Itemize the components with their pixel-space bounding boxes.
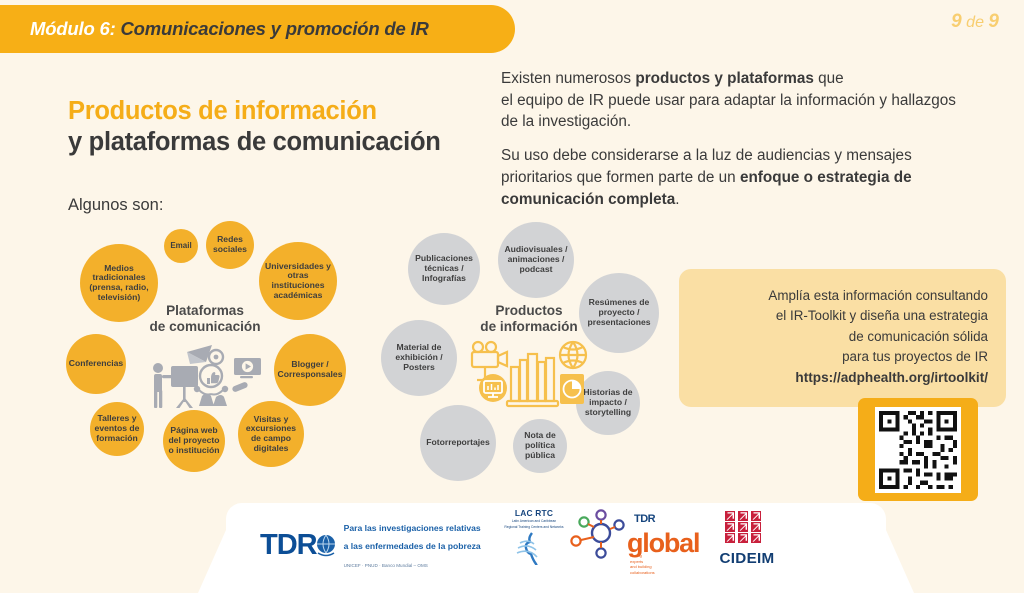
qr-code-container[interactable] (858, 398, 978, 501)
bubble-products-3[interactable]: Material de exhibición / Posters (381, 320, 457, 396)
bubble-label: Audiovisuales / animaciones / podcast (500, 245, 572, 274)
bubble-label: Publicaciones técnicas / Infografías (410, 254, 478, 283)
video-screen-icon (231, 358, 261, 393)
bubble-platforms-1[interactable]: Email (164, 229, 198, 263)
callout-line-4: para tus proyectos de IR (842, 349, 988, 364)
bubble-label: Nota de política pública (515, 431, 565, 460)
tdr-logo-word: TDR (260, 529, 317, 562)
tdr-globe-icon (314, 533, 338, 557)
platforms-cluster-label: Plataformas de comunicación (140, 303, 270, 335)
tdr-global-sub-1: finding experts (630, 553, 643, 564)
bubble-platforms-6[interactable]: Talleres y eventos de formación (90, 402, 144, 456)
bubble-label: Universidades y otras instituciones acad… (261, 262, 335, 301)
qr-code[interactable] (867, 407, 969, 493)
bubble-platforms-4[interactable]: Conferencias (66, 334, 126, 394)
platforms-icon-art (146, 340, 264, 417)
intro-paragraph-1: Existen numerosos productos y plataforma… (501, 68, 971, 133)
thumbs-up-network-icon (194, 365, 228, 406)
page-title: Productos de información y plataformas d… (68, 96, 498, 158)
bubble-label: Fotorreportajes (426, 438, 490, 448)
lac-rtc-sub-1: Latin American and Caribbean (503, 519, 565, 524)
cideim-logo: CIDEIM (710, 509, 784, 567)
products-label-line-2: de información (480, 319, 577, 334)
bubble-label: Talleres y eventos de formación (92, 414, 142, 443)
tdr-tagline-line-2: a las enfermedades de la pobreza (344, 541, 481, 551)
bubble-platforms-2[interactable]: Redes sociales (206, 221, 254, 269)
lac-rtc-word: LAC RTC (503, 508, 565, 518)
bubble-label: Página web del proyecto o institución (165, 426, 223, 455)
page-separator: de (962, 14, 989, 31)
products-label-line-1: Productos (495, 303, 562, 318)
tdr-global-logo: TDR global finding experts and building … (570, 508, 628, 565)
platforms-label-line-1: Plataformas (166, 303, 244, 318)
intro-p2-c: . (675, 191, 679, 208)
bubble-label: Redes sociales (208, 235, 252, 254)
lac-rtc-map-icon (510, 531, 558, 565)
callout-url-link[interactable]: https://adphealth.org/irtoolkit/ (795, 370, 988, 385)
pie-chart-document-icon (560, 374, 584, 404)
presenter-board-icon (153, 363, 198, 408)
bubble-label: Email (170, 241, 191, 250)
tdr-tagline: Para las investigaciones relativas a las… (344, 518, 481, 572)
module-header-pill: Módulo 6: Comunicaciones y promoción de … (0, 5, 515, 53)
products-icon-art (467, 338, 589, 419)
module-title: Comunicaciones y promoción de IR (116, 18, 429, 39)
callout-box: Amplía esta información consultando el I… (679, 269, 1006, 407)
page-current: 9 (951, 11, 962, 32)
intro-p1-a: Existen numerosos (501, 70, 635, 87)
bubble-products-6[interactable]: Nota de política pública (513, 419, 567, 473)
platforms-icon-group (146, 340, 264, 412)
intro-p1-bold: productos y plataformas (635, 70, 814, 87)
tdr-global-sub-2: and building collaborations (630, 564, 655, 575)
tdr-logo: TDR Para las investigaciones relativas a… (260, 518, 481, 572)
bubble-platforms-7[interactable]: Página web del proyecto o institución (163, 410, 225, 472)
lac-rtc-logo: LAC RTC Latin American and Caribbean Reg… (503, 508, 565, 570)
bubble-label: Medios tradicionales (prensa, radio, tel… (82, 264, 156, 303)
intro-copy: Existen numerosos productos y plataforma… (501, 68, 971, 222)
bubble-label: Material de exhibición / Posters (383, 343, 455, 372)
cideim-arrows-icon (725, 509, 769, 543)
callout-line-1: Amplía esta información consultando (768, 288, 988, 303)
page-title-line-1: Productos de información (68, 96, 498, 127)
bubble-products-0[interactable]: Publicaciones técnicas / Infografías (408, 233, 480, 305)
tdr-tagline-line-3: UNICEF · PNUD · Banco Mundial – OMS (344, 563, 428, 568)
globe-icon (560, 342, 586, 368)
callout-text: Amplía esta información consultando el I… (696, 286, 988, 388)
tdr-global-tdr-mark: TDR (634, 513, 655, 525)
page-title-line-2: y plataformas de comunicación (68, 127, 498, 158)
bubble-label: Blogger / Corresponsales (276, 360, 344, 379)
intro-paragraph-2: Su uso debe considerarse a la luz de aud… (501, 145, 971, 210)
page-total: 9 (988, 11, 999, 32)
books-shelf-icon (507, 354, 558, 406)
chart-monitor-icon (479, 374, 507, 402)
platforms-label-line-2: de comunicación (149, 319, 260, 334)
callout-line-2: el IR-Toolkit y diseña una estrategia (776, 308, 988, 323)
film-camera-icon (472, 342, 507, 380)
page-counter: 9 de 9 (951, 11, 999, 33)
module-label: Módulo 6: (30, 18, 116, 39)
subheading-algunos-son: Algunos son: (68, 196, 163, 215)
cideim-word: CIDEIM (710, 550, 784, 567)
module-header-text: Módulo 6: Comunicaciones y promoción de … (0, 18, 429, 40)
products-icon-group (467, 338, 589, 414)
bubble-platforms-5[interactable]: Blogger / Corresponsales (274, 334, 346, 406)
bubble-products-1[interactable]: Audiovisuales / animaciones / podcast (498, 222, 574, 298)
molecule-network-icon (570, 508, 628, 560)
lac-rtc-sub-2: Regional Training Centers and Networks (503, 525, 565, 530)
intro-p1-d: el equipo de IR puede usar para adaptar … (501, 92, 956, 131)
envelope-at-icon (187, 345, 223, 364)
bubble-label: Conferencias (69, 359, 123, 369)
bubble-platforms-3[interactable]: Universidades y otras instituciones acad… (259, 242, 337, 320)
products-cluster-label: Productos de información (465, 303, 593, 335)
intro-p1-c: que (814, 70, 844, 87)
callout-line-3: de comunicación sólida (849, 329, 988, 344)
tdr-global-sub: finding experts and building collaborati… (630, 553, 655, 575)
tdr-tagline-line-1: Para las investigaciones relativas (344, 523, 481, 533)
bubble-label: Visitas y excursiones de campo digitales (240, 415, 302, 454)
